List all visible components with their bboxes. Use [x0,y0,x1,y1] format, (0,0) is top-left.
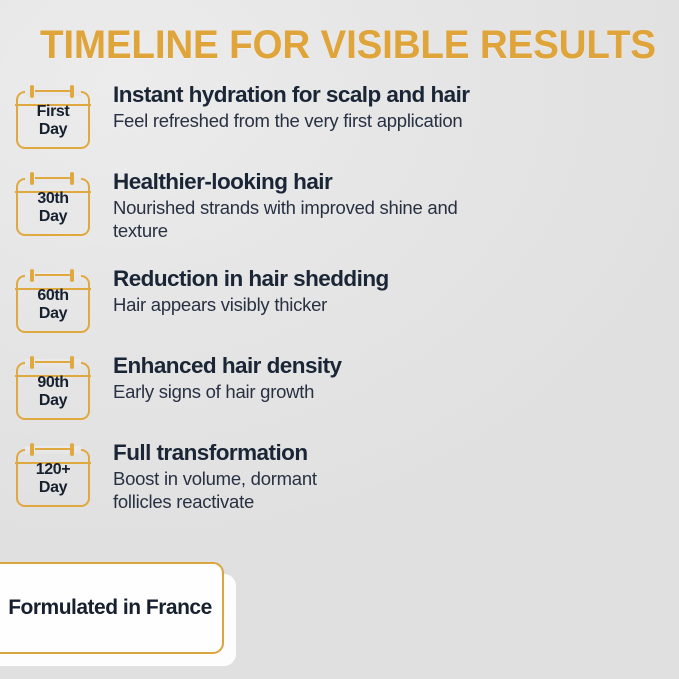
calendar-icon: First Day [16,83,94,153]
badge-line-1: 30th [16,190,90,208]
calendar-icon: 90th Day [16,354,94,424]
badge-line-2: Day [16,392,90,410]
page-title: TIMELINE FOR VISIBLE RESULTS [40,22,631,68]
timeline-item: 90th Day Enhanced hair density Early sig… [0,349,679,427]
timeline-subtext: Nourished strands with improved shine an… [113,196,505,242]
badge-line-2: Day [16,121,90,139]
badge-line-1: 60th [16,287,90,305]
badge-line-1: First [16,103,90,121]
badge-line-1: 90th [16,374,90,392]
calendar-icon: 30th Day [16,170,94,240]
timeline-item: First Day Instant hydration for scalp an… [0,78,679,156]
timeline-headline: Full transformation [113,440,375,466]
timeline-headline: Instant hydration for scalp and hair [113,82,470,108]
timeline-subtext: Feel refreshed from the very first appli… [113,109,470,132]
badge-line-2: Day [16,305,90,323]
timeline-subtext: Early signs of hair growth [113,380,342,403]
card-label: Formulated in France [0,595,212,621]
badge-line-1: 120+ [16,461,90,479]
badge-line-2: Day [16,479,90,497]
timeline-headline: Healthier-looking hair [113,169,505,195]
card-body: Formulated in France [0,562,224,654]
timeline-item: 30th Day Healthier-looking hair Nourishe… [0,165,679,253]
timeline-headline: Enhanced hair density [113,353,342,379]
timeline-item: 60th Day Reduction in hair shedding Hair… [0,262,679,340]
timeline-list: First Day Instant hydration for scalp an… [0,78,679,533]
badge-line-2: Day [16,208,90,226]
timeline-subtext: Boost in volume, dormant follicles react… [113,467,375,513]
infographic-poster: TIMELINE FOR VISIBLE RESULTS First Day I… [0,0,679,679]
timeline-subtext: Hair appears visibly thicker [113,293,389,316]
timeline-headline: Reduction in hair shedding [113,266,389,292]
calendar-icon: 120+ Day [16,441,94,511]
timeline-item: 120+ Day Full transformation Boost in vo… [0,436,679,524]
calendar-icon: 60th Day [16,267,94,337]
